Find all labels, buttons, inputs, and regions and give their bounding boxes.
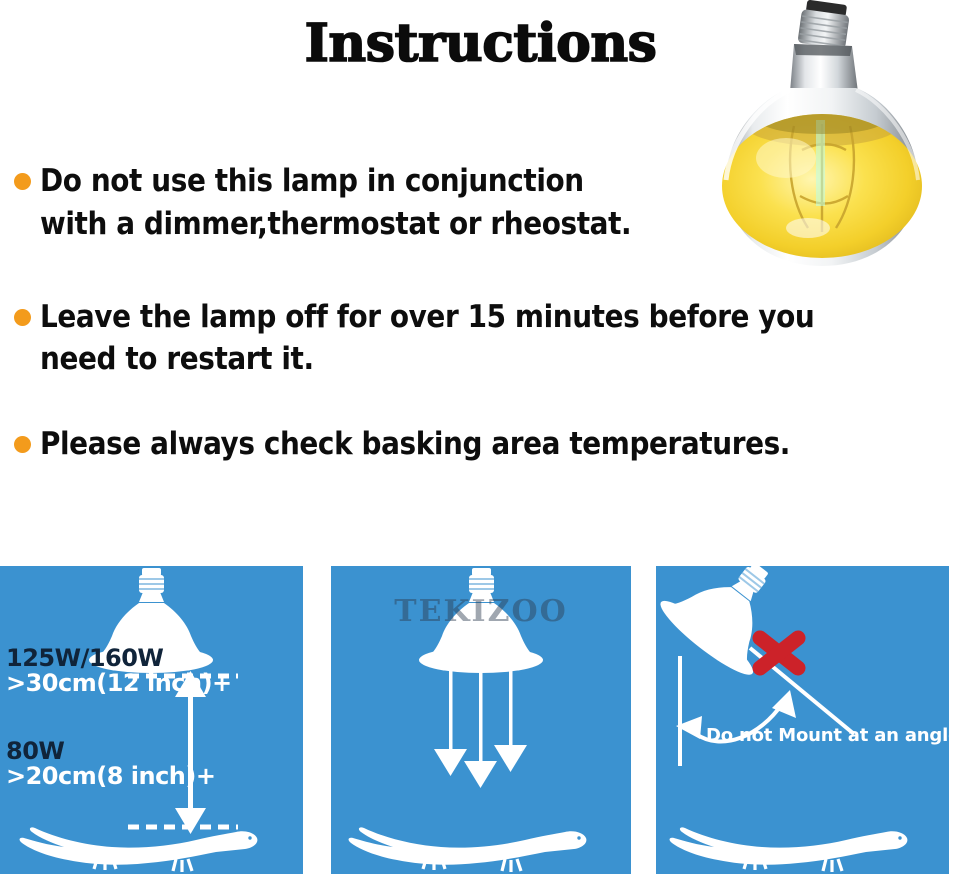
wattage-value-low: 80W xyxy=(6,739,215,764)
lizard-silhouette-icon xyxy=(670,827,908,872)
distance-label-low-wattage: 80W >20cm(8 inch)+ xyxy=(6,739,215,789)
bullet-dot-icon xyxy=(14,436,31,453)
panel-angle-warning xyxy=(656,566,949,874)
angle-warning-diagram xyxy=(656,566,949,874)
distance-value-high: >30cm(12 inch)+ xyxy=(6,671,232,696)
lizard-silhouette-icon xyxy=(20,827,258,872)
instruction-list: Do not use this lamp in conjunction with… xyxy=(14,160,934,492)
bullet-dot-icon xyxy=(14,173,31,190)
bullet-1-text: Do not use this lamp in conjunction with… xyxy=(40,160,631,246)
page-title: Instructions xyxy=(0,18,961,70)
red-x-icon xyxy=(760,638,798,668)
distance-value-low: >20cm(8 inch)+ xyxy=(6,764,215,789)
diagram-panels: TEKIZOO xyxy=(0,566,961,874)
distance-diagram xyxy=(0,566,303,874)
lizard-silhouette-icon xyxy=(349,827,587,872)
bullet-dot-icon xyxy=(14,309,31,326)
list-item: Do not use this lamp in conjunction with… xyxy=(14,160,934,246)
list-item: Please always check basking area tempera… xyxy=(14,423,934,466)
panel-distance xyxy=(0,566,303,874)
list-item: Leave the lamp off for over 15 minutes b… xyxy=(14,296,934,382)
bullet-3-text: Please always check basking area tempera… xyxy=(40,423,790,466)
wattage-value-high: 125W/160W xyxy=(6,646,232,671)
instructions-page: Instructions xyxy=(0,0,961,874)
angle-warning-caption: Do not Mount at an angle xyxy=(706,725,960,746)
bullet-2-text: Leave the lamp off for over 15 minutes b… xyxy=(40,296,814,382)
distance-label-high-wattage: 125W/160W >30cm(12 inch)+ xyxy=(6,646,232,696)
brand-watermark: TEKIZOO xyxy=(394,594,567,629)
panel-downward-heat: TEKIZOO xyxy=(331,566,631,874)
